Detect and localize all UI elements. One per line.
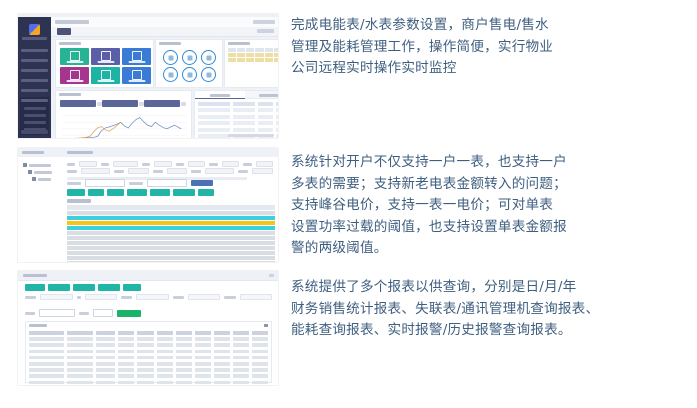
- gauge-2: [182, 50, 197, 65]
- close-icon[interactable]: [269, 274, 274, 277]
- slide-canvas: 完成电能表/水表参数设置，商户售电/售水 管理及能耗管理工作，操作简便，实行物业…: [0, 0, 697, 408]
- bar-chart-icon: [70, 70, 80, 80]
- card-title: [228, 42, 250, 45]
- table-row[interactable]: [67, 246, 275, 250]
- table-row[interactable]: [198, 128, 278, 132]
- chart-icon: [101, 51, 111, 61]
- gauge-6: [201, 67, 216, 82]
- table-row[interactable]: [198, 108, 278, 112]
- filter-select[interactable]: [256, 161, 274, 167]
- export-icon[interactable]: [264, 324, 268, 327]
- tile-label: [97, 61, 114, 64]
- quick-entry-tiles: [60, 48, 151, 84]
- tile-edit[interactable]: [91, 67, 120, 84]
- screenshot-datagrid: [18, 148, 278, 262]
- tree-node-root[interactable]: [23, 163, 52, 167]
- tile-label: [128, 61, 145, 64]
- tree-panel: [18, 157, 63, 262]
- toolbar-button-4[interactable]: [127, 189, 147, 196]
- folder-icon: [28, 170, 32, 174]
- toolbar-button-3[interactable]: [73, 284, 95, 291]
- tile-label: [66, 61, 83, 64]
- table-row[interactable]: [29, 337, 268, 341]
- search-button[interactable]: [191, 180, 213, 186]
- toolbar-button-5[interactable]: [123, 284, 141, 291]
- filter-select[interactable]: [136, 294, 169, 300]
- search-row: [67, 179, 213, 187]
- tree-node-child[interactable]: [28, 170, 52, 174]
- tab-ranking-a[interactable]: [195, 91, 245, 99]
- sidebar-item-5[interactable]: [21, 89, 48, 92]
- grid-container: [67, 199, 275, 260]
- search-input-2[interactable]: [147, 179, 187, 187]
- gauge-5: [182, 67, 197, 82]
- report-table-container: [25, 321, 272, 383]
- gauge-1: [163, 50, 178, 65]
- table-row[interactable]: [67, 221, 275, 225]
- toolbar-button-2[interactable]: [88, 189, 104, 196]
- toolbar-button-7[interactable]: [198, 189, 214, 196]
- chart-filter-selects: [60, 100, 180, 107]
- filter-select[interactable]: [85, 294, 118, 300]
- table-header-row: [198, 102, 278, 106]
- paragraph-3: 系统提供了多个报表以供查询，分别是日/月/年 财务销售统计报表、失联表/通讯管理…: [291, 277, 691, 342]
- search-label-2: [129, 182, 143, 185]
- search-label: [67, 182, 81, 185]
- filter-select[interactable]: [79, 161, 97, 167]
- table-row[interactable]: [29, 368, 268, 372]
- ranking-tabs: [195, 91, 278, 99]
- toolbar-button-5[interactable]: [150, 189, 170, 196]
- table-row[interactable]: [198, 115, 278, 119]
- table-row[interactable]: [67, 226, 275, 230]
- filter-row: [67, 162, 273, 166]
- report-search-row: [25, 309, 141, 317]
- report-header: [18, 271, 278, 281]
- date-separator: [79, 312, 89, 315]
- screenshot-report: [18, 271, 278, 385]
- card-title: [59, 93, 81, 96]
- table-row[interactable]: [29, 362, 268, 366]
- sidebar-item-6[interactable]: [21, 99, 48, 102]
- tile-label: [128, 80, 145, 83]
- date-label: [25, 312, 35, 315]
- chart-filter-3[interactable]: [144, 100, 180, 107]
- sidebar-subitem-2[interactable]: [24, 114, 46, 117]
- ranking-table: [198, 102, 278, 138]
- tab-active[interactable]: [57, 28, 71, 35]
- filter-select[interactable]: [222, 161, 240, 167]
- filter-select[interactable]: [167, 168, 188, 174]
- sidebar-subitem-3[interactable]: [24, 121, 46, 124]
- sidebar-subitem-1[interactable]: [24, 107, 46, 110]
- table-row[interactable]: [29, 381, 268, 385]
- report-app: [18, 271, 278, 385]
- tile-lock[interactable]: [60, 48, 89, 65]
- chart-series-blue: [64, 118, 181, 138]
- toolbar-button-1[interactable]: [67, 189, 85, 196]
- table-row[interactable]: [29, 374, 268, 378]
- filter-select[interactable]: [40, 294, 73, 300]
- paragraph-1: 完成电能表/水表参数设置，商户售电/售水 管理及能耗管理工作，操作简便，实行物业…: [291, 15, 691, 80]
- edit-icon: [101, 70, 111, 80]
- date-to-input[interactable]: [93, 309, 113, 317]
- table-header-row: [228, 48, 278, 52]
- table-row[interactable]: [228, 53, 278, 57]
- toolbar-button-3[interactable]: [107, 189, 124, 196]
- table-row[interactable]: [67, 241, 275, 245]
- card-title: [159, 42, 181, 45]
- table-row[interactable]: [67, 261, 275, 262]
- building-tree: [23, 163, 52, 184]
- tile-label: [66, 80, 83, 83]
- table-row[interactable]: [67, 231, 275, 235]
- app-logo-icon: [29, 24, 40, 35]
- filter-select[interactable]: [154, 161, 172, 167]
- filter-select[interactable]: [188, 294, 221, 300]
- table-row[interactable]: [67, 216, 275, 220]
- tile-bar-chart[interactable]: [60, 67, 89, 84]
- table-row[interactable]: [228, 58, 278, 62]
- filter-select[interactable]: [205, 168, 234, 174]
- file-icon: [32, 177, 36, 181]
- trend-chart-card: [55, 90, 192, 138]
- chart-svg: [62, 112, 187, 138]
- tile-label: [97, 80, 114, 83]
- paragraph-2: 系统针对开户不仅支持一户一表，也支持一户 多表的需要；支持新老电表金额转入的问题…: [291, 152, 691, 260]
- tree-node-leaf[interactable]: [32, 177, 52, 181]
- filter-row: [25, 295, 272, 299]
- toolbar-button-2[interactable]: [48, 284, 70, 291]
- table-row[interactable]: [29, 343, 268, 347]
- sidebar-footer-icons[interactable]: [21, 130, 48, 134]
- topbar-title: [55, 20, 89, 24]
- trend-line-chart: [62, 112, 187, 138]
- app-logo-text: [22, 37, 47, 40]
- lock-icon: [70, 51, 80, 61]
- grid-header-row: [67, 205, 275, 210]
- card-title: [59, 42, 81, 45]
- report-filter-panel: [25, 295, 272, 303]
- gauge-4: [163, 67, 178, 82]
- table-row[interactable]: [198, 121, 278, 125]
- filter-row: [67, 169, 273, 173]
- toolbar-button-4[interactable]: [98, 284, 120, 291]
- meter-icon: [132, 51, 142, 61]
- table-row[interactable]: [67, 251, 275, 255]
- dashboard-tabbar: [51, 27, 278, 37]
- report-table: [29, 331, 268, 385]
- table-row[interactable]: [67, 211, 275, 215]
- filter-select[interactable]: [252, 168, 273, 174]
- sidebar-item-4[interactable]: [21, 79, 48, 82]
- filter-select[interactable]: [240, 294, 273, 300]
- ranking-card: [194, 90, 278, 138]
- screenshot-dashboard: [18, 14, 278, 138]
- tile-settings[interactable]: [122, 67, 151, 84]
- report-table-title: [29, 324, 47, 327]
- table-row[interactable]: [29, 356, 268, 360]
- table-row[interactable]: [67, 256, 275, 260]
- chart-filter-1[interactable]: [60, 100, 96, 107]
- toolbar-button-6[interactable]: [173, 189, 195, 196]
- action-toolbar: [67, 189, 214, 196]
- dashboard-sidebar: [18, 17, 51, 138]
- gauge-grid: [161, 49, 218, 83]
- dashboard-status-bar: [228, 134, 274, 137]
- gauge-3: [201, 50, 216, 65]
- datagrid-app: [18, 148, 278, 262]
- filter-select[interactable]: [188, 161, 206, 167]
- text-column: 完成电能表/水表参数设置，商户售电/售水 管理及能耗管理工作，操作简便，实行物业…: [291, 0, 697, 408]
- tab-ranking-b[interactable]: [245, 91, 279, 99]
- dashboard-app: [18, 14, 278, 138]
- chart-series-orange: [64, 122, 121, 138]
- table-header-row: [29, 331, 268, 335]
- tile-meter[interactable]: [122, 48, 151, 65]
- filter-select[interactable]: [113, 161, 138, 167]
- summary-table-card: [224, 39, 278, 88]
- gauge-card: [155, 39, 223, 88]
- table-row[interactable]: [29, 350, 268, 354]
- search-input[interactable]: [85, 179, 125, 187]
- quick-entry-card: [55, 39, 154, 88]
- query-button[interactable]: [117, 310, 141, 317]
- grid-title: [67, 199, 91, 203]
- datagrid-body: [62, 157, 278, 262]
- folder-icon: [23, 163, 27, 167]
- toolbar-button-1[interactable]: [25, 284, 45, 291]
- tabbar-actions[interactable]: [257, 29, 274, 33]
- settings-icon: [132, 70, 142, 80]
- tile-chart[interactable]: [91, 48, 120, 65]
- sidebar-item-3[interactable]: [21, 69, 48, 72]
- filter-select[interactable]: [81, 168, 110, 174]
- sidebar-item-1[interactable]: [21, 49, 48, 52]
- table-row[interactable]: [67, 236, 275, 240]
- summary-table: [228, 48, 278, 63]
- sidebar-item-2[interactable]: [21, 59, 48, 62]
- report-toolbar: [25, 284, 141, 291]
- filter-select[interactable]: [128, 168, 149, 174]
- chart-filter-2[interactable]: [102, 100, 138, 107]
- topbar-user-area[interactable]: [253, 20, 275, 24]
- date-from-input[interactable]: [39, 309, 75, 317]
